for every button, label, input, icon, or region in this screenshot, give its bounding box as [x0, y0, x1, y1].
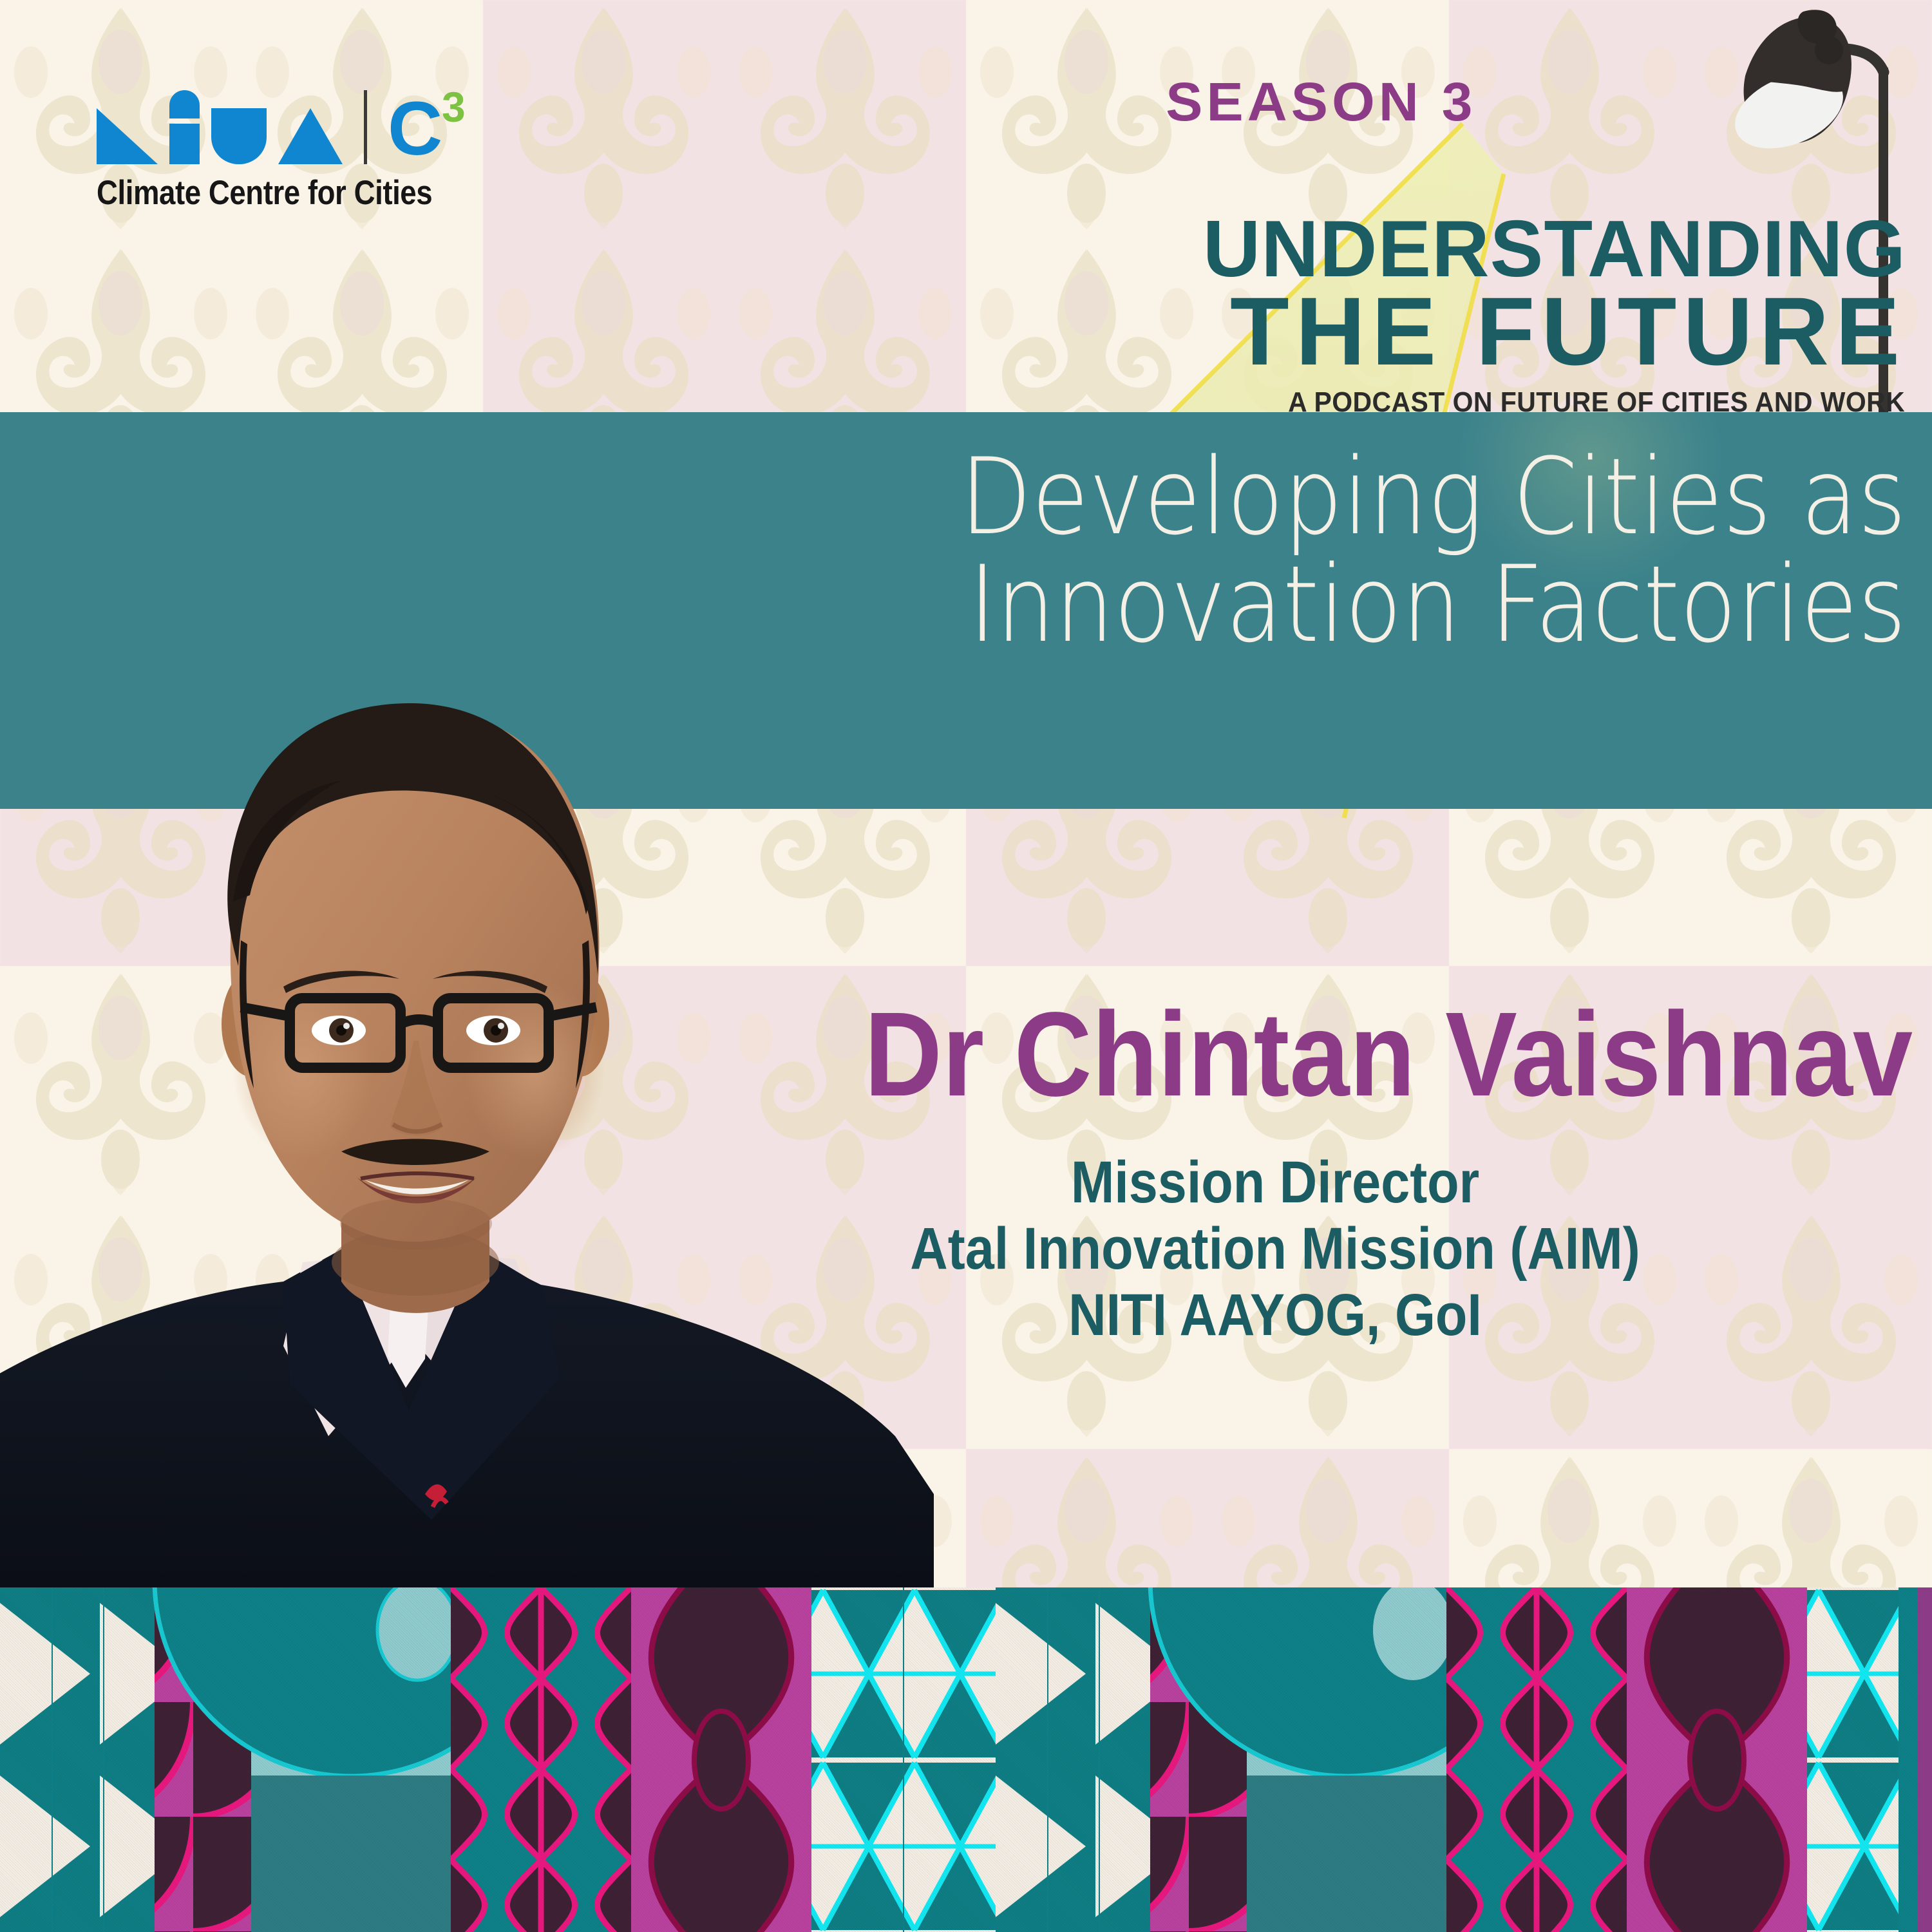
bottom-pattern-band	[0, 1587, 1932, 1932]
niua-u-glyph-icon	[211, 108, 267, 164]
c3-letter: C	[388, 95, 440, 163]
speaker-role: Mission Director Atal Innovation Mission…	[720, 1150, 1831, 1349]
show-title-line-1: UNDERSTANDING	[811, 213, 1906, 287]
speaker-role-line-2: Atal Innovation Mission (AIM)	[720, 1216, 1831, 1282]
logo-caption: Climate Centre for Cities	[97, 173, 384, 213]
show-title-line-2: THE FUTURE	[811, 287, 1906, 377]
speaker-role-line-1: Mission Director	[720, 1150, 1831, 1216]
niua-i-dot-icon	[169, 90, 200, 118]
podcast-cover-poster: C 3 Climate Centre for Cities	[0, 0, 1932, 1932]
niua-c3-logo: C 3 Climate Centre for Cities	[97, 90, 431, 213]
speaker-role-line-3: NITI AAYOG, GoI	[720, 1282, 1831, 1349]
show-title: UNDERSTANDING THE FUTURE	[811, 213, 1906, 377]
logo-divider-icon	[364, 90, 367, 164]
c3-superscript: 3	[442, 88, 466, 126]
niua-i-stem-icon	[169, 124, 200, 164]
band-right-edge	[1918, 1587, 1932, 1932]
episode-title-line-1: Developing Cities as	[263, 443, 1906, 551]
logo-marks: C 3	[97, 90, 431, 164]
niua-a-glyph-icon	[278, 108, 343, 164]
niua-n-glyph-icon	[97, 108, 158, 164]
speaker-name: Dr Chintan Vaishnav	[191, 995, 1913, 1115]
season-label: SEASON 3	[1166, 71, 1476, 133]
